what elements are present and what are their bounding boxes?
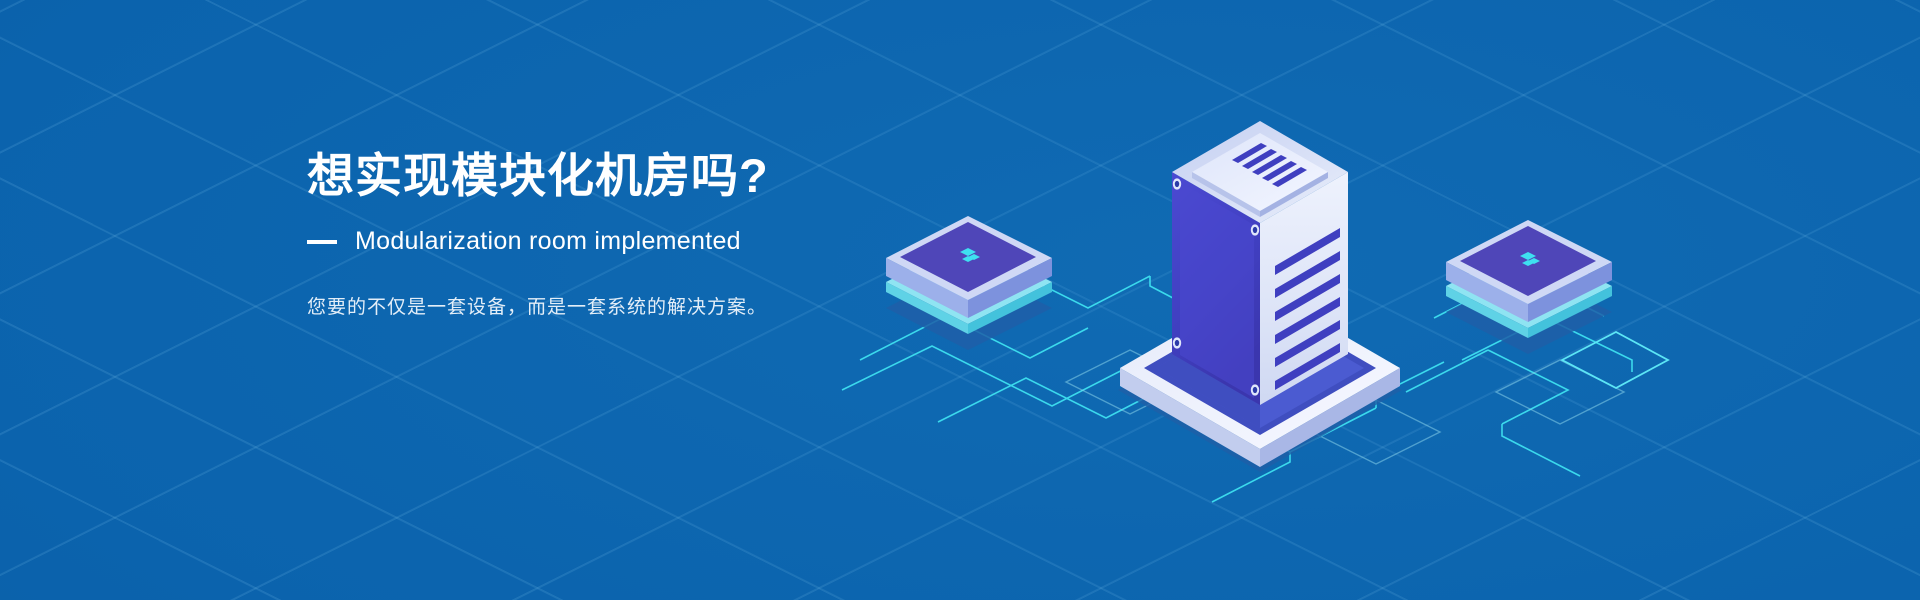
accent-diamond-outline xyxy=(1562,332,1668,388)
description-text: 您要的不仅是一套设备，而是一套系统的解决方案。 xyxy=(307,292,1067,319)
subtitle: Modularization room implemented xyxy=(355,227,741,256)
divider-dash xyxy=(307,240,337,244)
server-tower xyxy=(1118,121,1402,472)
chip-module-right xyxy=(1446,220,1612,354)
subheadline-row: Modularization room implemented xyxy=(307,227,1067,256)
page-title: 想实现模块化机房吗? xyxy=(307,148,1067,203)
hero-copy: 想实现模块化机房吗? Modularization room implement… xyxy=(307,148,1067,338)
hero-banner: 想实现模块化机房吗? Modularization room implement… xyxy=(0,0,1920,600)
